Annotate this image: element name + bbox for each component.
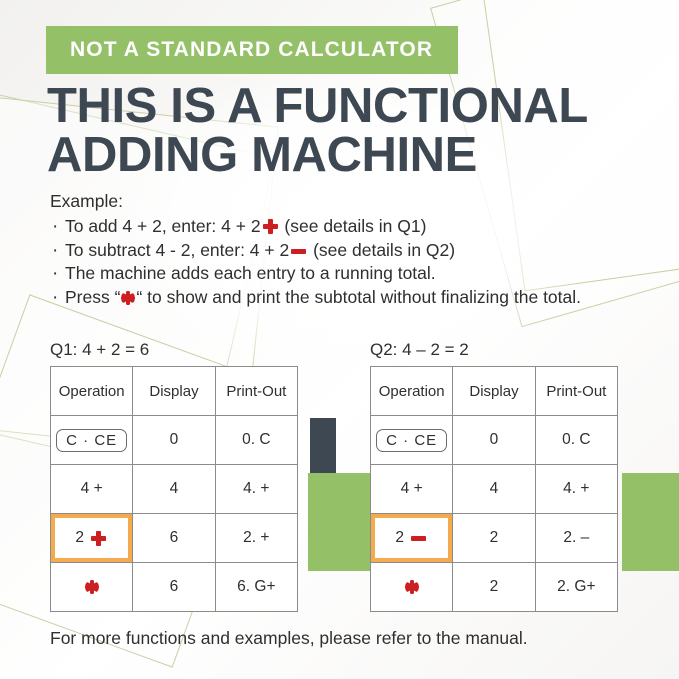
cell-display: 6 (133, 563, 215, 612)
bullet-text-before: The machine adds each entry to a running… (65, 263, 436, 283)
q2-table-block: Q2: 4 – 2 = 2 Operation Display Print-Ou… (370, 340, 618, 612)
example-bullet-list: To add 4 + 2, enter: 4 + 2 (see details … (50, 215, 630, 310)
plus-icon (91, 531, 106, 546)
bullet-text-before: To subtract 4 - 2, enter: 4 + 2 (65, 240, 289, 260)
plus-icon (263, 219, 278, 234)
clear-entry-key[interactable]: C · CE (376, 429, 447, 452)
column-header-operation: Operation (51, 367, 133, 416)
q1-caption: Q1: 4 + 2 = 6 (50, 340, 298, 360)
table-row: 2 2. G+ (371, 563, 618, 612)
cell-display: 4 (133, 465, 215, 514)
list-item: Press ““ to show and print the subtotal … (50, 286, 630, 310)
cell-operation-highlighted: 2 (371, 514, 453, 563)
asterisk-icon (405, 580, 419, 594)
cell-operation: 4 + (371, 465, 453, 514)
bullet-text-before: Press “ (65, 287, 120, 307)
cell-operation (51, 563, 133, 612)
cell-printout: 4. + (535, 465, 617, 514)
table-row: C · CE 0 0. C (371, 416, 618, 465)
bullet-text-after: (see details in Q2) (308, 240, 455, 260)
table-row: C · CE 0 0. C (51, 416, 298, 465)
cell-display: 2 (453, 563, 535, 612)
example-lead: Example: (50, 190, 630, 214)
table-header-row: Operation Display Print-Out (371, 367, 618, 416)
cell-display: 6 (133, 514, 215, 563)
bullet-text-before: To add 4 + 2, enter: 4 + 2 (65, 216, 261, 236)
column-header-printout: Print-Out (215, 367, 297, 416)
cell-display: 4 (453, 465, 535, 514)
eyebrow-banner: NOT A STANDARD CALCULATOR (46, 26, 458, 74)
cell-operation (371, 563, 453, 612)
minus-icon (411, 531, 426, 545)
bullet-text-after: “ to show and print the subtotal without… (136, 287, 581, 307)
cell-printout: 0. C (215, 416, 297, 465)
cell-display: 0 (453, 416, 535, 465)
page-title-line-2: ADDING MACHINE (47, 131, 657, 180)
cell-printout: 2. – (535, 514, 617, 563)
cell-printout: 4. + (215, 465, 297, 514)
example-section: Example: To add 4 + 2, enter: 4 + 2 (see… (50, 190, 630, 310)
q2-table: Operation Display Print-Out C · CE 0 0. … (370, 366, 618, 612)
cell-operation-highlighted: 2 (51, 514, 133, 563)
q1-table: Operation Display Print-Out C · CE 0 0. … (50, 366, 298, 612)
cell-printout: 0. C (535, 416, 617, 465)
operation-value: 2 (395, 529, 404, 547)
cell-operation: 4 + (51, 465, 133, 514)
minus-icon (291, 244, 306, 258)
bullet-text-after: (see details in Q1) (280, 216, 427, 236)
column-header-display: Display (453, 367, 535, 416)
cell-display: 2 (453, 514, 535, 563)
cell-printout: 6. G+ (215, 563, 297, 612)
q2-caption: Q2: 4 – 2 = 2 (370, 340, 618, 360)
cell-display: 0 (133, 416, 215, 465)
list-item: The machine adds each entry to a running… (50, 262, 630, 286)
column-header-display: Display (133, 367, 215, 416)
page-title-line-1: THIS IS A FUNCTIONAL (47, 82, 657, 131)
table-row: 4 + 4 4. + (51, 465, 298, 514)
cell-operation: C · CE (371, 416, 453, 465)
table-row: 4 + 4 4. + (371, 465, 618, 514)
table-row: 6 6. G+ (51, 563, 298, 612)
cell-printout: 2. G+ (535, 563, 617, 612)
column-header-operation: Operation (371, 367, 453, 416)
operation-value: 2 (75, 529, 84, 547)
table-header-row: Operation Display Print-Out (51, 367, 298, 416)
list-item: To add 4 + 2, enter: 4 + 2 (see details … (50, 215, 630, 239)
eyebrow-label: NOT A STANDARD CALCULATOR (46, 38, 433, 62)
cell-operation: C · CE (51, 416, 133, 465)
infographic-page: NOT A STANDARD CALCULATOR THIS IS A FUNC… (0, 0, 679, 679)
asterisk-icon (121, 291, 135, 305)
clear-entry-key[interactable]: C · CE (56, 429, 127, 452)
q1-table-block: Q1: 4 + 2 = 6 Operation Display Print-Ou… (50, 340, 298, 612)
page-title: THIS IS A FUNCTIONAL ADDING MACHINE (47, 82, 657, 179)
cell-printout: 2. + (215, 514, 297, 563)
footer-note: For more functions and examples, please … (50, 628, 650, 649)
list-item: To subtract 4 - 2, enter: 4 + 2 (see det… (50, 239, 630, 263)
table-row: 2 6 2. + (51, 514, 298, 563)
table-row: 2 2 2. – (371, 514, 618, 563)
asterisk-icon (85, 580, 99, 594)
column-header-printout: Print-Out (535, 367, 617, 416)
